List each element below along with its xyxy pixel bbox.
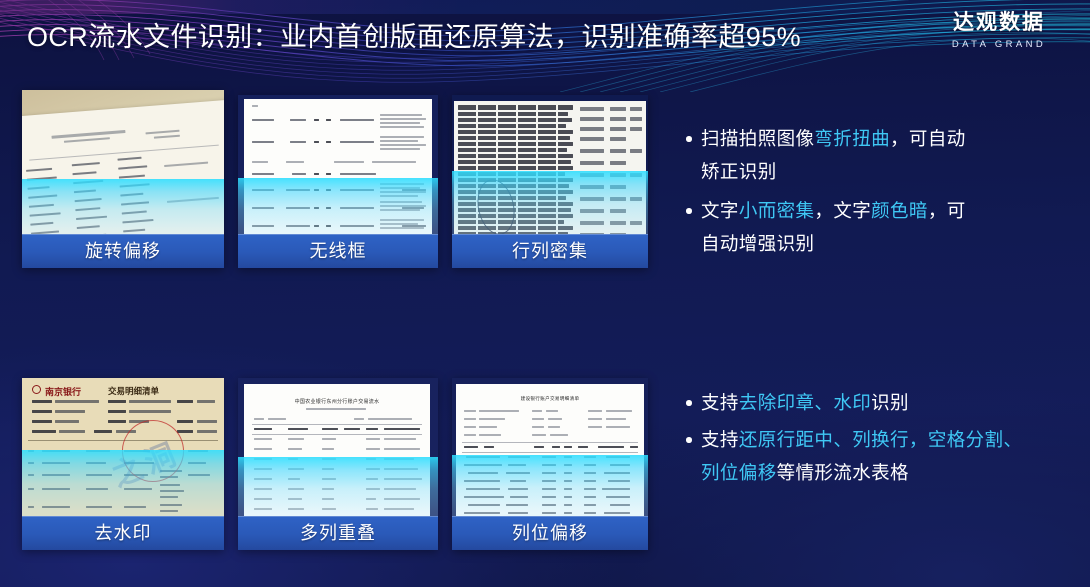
- feature-text-highlight: 小而密集: [739, 200, 815, 221]
- card-caption: 多列重叠: [238, 516, 438, 550]
- feature-text-plain: ，可自动: [890, 128, 966, 149]
- sample-card-borderless[interactable]: 无线框: [238, 95, 438, 268]
- feature-item: 文字小而密集，文字颜色暗，可 自动增强识别: [684, 194, 1076, 260]
- sample-card-watermark[interactable]: 南京银行 交易明细清单: [22, 378, 224, 550]
- feature-text-highlight: 还原行距中、列换行，空格分割、: [739, 429, 1023, 450]
- feature-text-highlight: 弯折扭曲: [814, 128, 890, 149]
- feature-text-highlight: 去除印章、水印: [739, 392, 871, 413]
- feature-text-highlight: 颜色暗: [871, 200, 928, 221]
- document-title: 中国农业银行东州分行账户交易流水: [244, 398, 430, 405]
- feature-list-bottom: 支持去除印章、水印识别 支持还原行距中、列换行，空格分割、 列位偏移等情形流水表…: [684, 386, 1076, 489]
- feature-text-line2: 自动增强识别: [701, 227, 1076, 260]
- feature-item: 扫描拍照图像弯折扭曲，可自动 矫正识别: [684, 122, 1076, 188]
- top-sheen: [0, 0, 1090, 14]
- page-title: OCR流水文件识别：业内首创版面还原算法，识别准确率超95%: [27, 18, 801, 56]
- feature-text-line2: 矫正识别: [701, 155, 1076, 188]
- feature-text-plain: 扫描拍照图像: [701, 128, 814, 149]
- sample-card-shifted[interactable]: 建设银行账户交易明细清单: [452, 378, 648, 550]
- feature-text-plain: 识别: [871, 392, 909, 413]
- feature-text-line2: 列位偏移等情形流水表格: [701, 456, 1076, 489]
- brand-logo: 达观数据 DATA GRAND: [930, 10, 1068, 52]
- feature-text-plain: 等情形流水表格: [777, 462, 909, 483]
- bank-logo-icon: [32, 385, 41, 394]
- slip-bank-name: 南京银行: [45, 385, 81, 398]
- card-caption: 去水印: [22, 516, 224, 550]
- card-caption: 旋转偏移: [22, 234, 224, 268]
- feature-item: 支持去除印章、水印识别: [684, 386, 1076, 419]
- card-caption: 列位偏移: [452, 516, 648, 550]
- feature-text-plain: 支持: [701, 429, 739, 450]
- sample-card-dense[interactable]: 行列密集: [452, 95, 648, 268]
- feature-text-plain: 文字: [701, 200, 739, 221]
- feature-list-top: 扫描拍照图像弯折扭曲，可自动 矫正识别 文字小而密集，文字颜色暗，可 自动增强识…: [684, 122, 1076, 260]
- feature-text-plain: 支持: [701, 392, 739, 413]
- sample-card-multicolumn[interactable]: 中国农业银行东州分行账户交易流水: [238, 378, 438, 550]
- feature-text-highlight: 列位偏移: [701, 462, 777, 483]
- feature-text-plain: ，可: [928, 200, 966, 221]
- document-title: 建设银行账户交易明细清单: [456, 396, 644, 402]
- brand-logo-cn: 达观数据: [930, 10, 1068, 36]
- feature-text-plain: ，文字: [814, 200, 871, 221]
- slip-title: 交易明细清单: [108, 385, 159, 397]
- card-caption: 无线框: [238, 234, 438, 268]
- brand-logo-en: DATA GRAND: [930, 38, 1068, 52]
- feature-item: 支持还原行距中、列换行，空格分割、 列位偏移等情形流水表格: [684, 423, 1076, 489]
- card-caption: 行列密集: [452, 234, 648, 268]
- sample-card-rotated[interactable]: 旋转偏移: [22, 90, 224, 268]
- slide-root: OCR流水文件识别：业内首创版面还原算法，识别准确率超95% 达观数据 DATA…: [0, 0, 1090, 587]
